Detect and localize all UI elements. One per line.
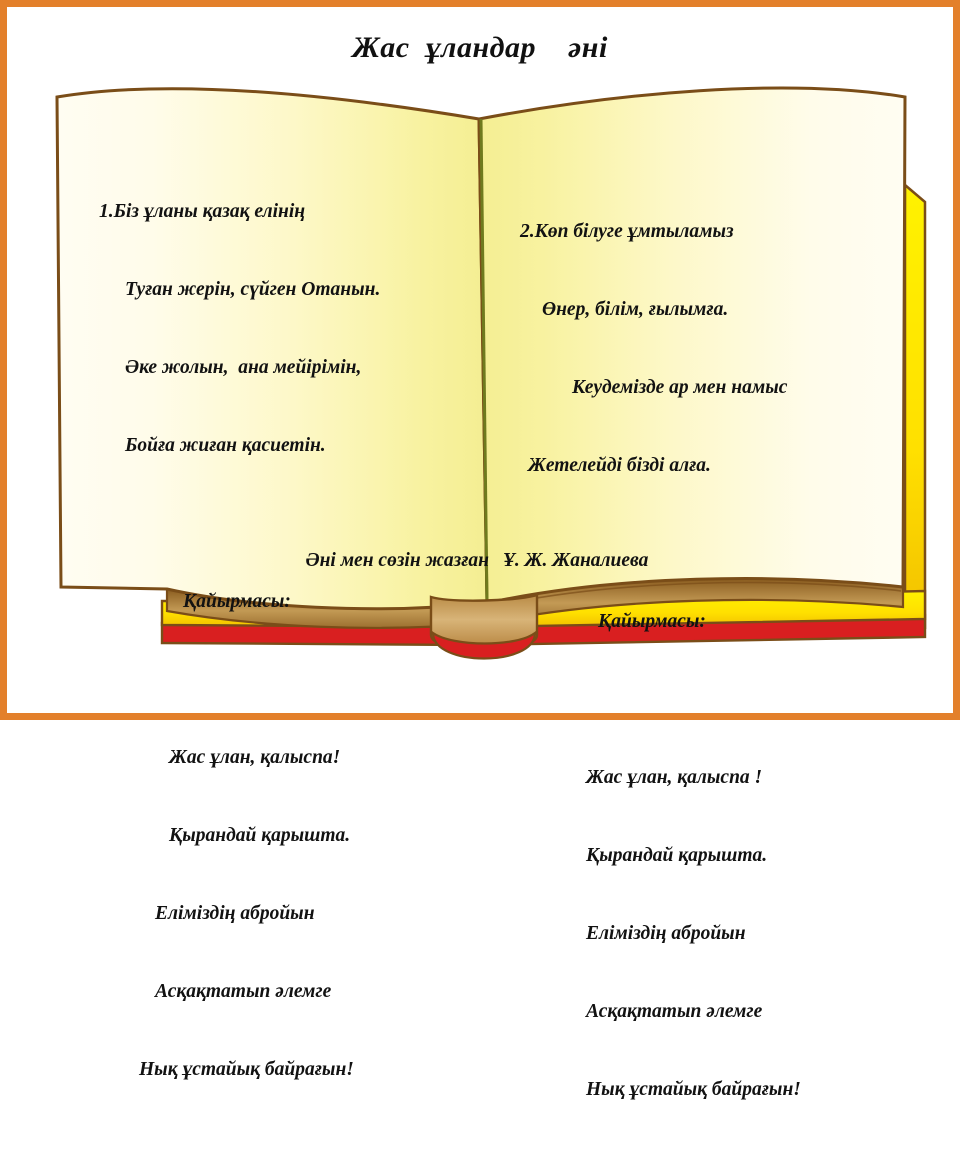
right-page-text-block: 2.Көп білуге ұмтыламыз Өнер, білім, ғылы… <box>502 167 902 1155</box>
spacer <box>99 667 479 693</box>
right-chorus-line: Нық ұстайық байрағын! <box>502 1077 902 1103</box>
right-chorus-line: Жас ұлан, қалыспа ! <box>502 765 902 791</box>
left-page-text-block: 1.Біз ұланы қазақ елінің Туған жерін, сү… <box>99 147 479 1135</box>
credit-author-label: Әні мен сөзін жазған <box>99 550 489 572</box>
right-chorus-line: Асқақтатып әлемге <box>502 999 902 1025</box>
spacer <box>99 511 479 537</box>
left-verse-line: Туған жерін, сүйген Отанын. <box>99 277 479 303</box>
left-chorus-line: Асқақтатып әлемге <box>99 979 479 1005</box>
right-chorus-heading: Қайырмасы: <box>502 609 902 635</box>
right-chorus-line: Қырандай қарышта. <box>502 843 902 869</box>
page-title: Жас ұландар әні <box>7 31 953 65</box>
spacer <box>502 687 902 713</box>
credit-author-name: Ұ. Ж. Жаналиева <box>503 550 648 572</box>
left-verse-line: Бойға жиған қасиетін. <box>99 433 479 459</box>
left-verse-line: 1.Біз ұланы қазақ елінің <box>99 199 479 225</box>
left-chorus-heading: Қайырмасы: <box>99 589 479 615</box>
left-chorus-line: Қырандай қарышта. <box>99 823 479 849</box>
book-right-cover-edge <box>905 185 925 627</box>
right-verse-line: Өнер, білім, ғылымға. <box>502 297 902 323</box>
right-verse-line: 2.Көп білуге ұмтыламыз <box>502 219 902 245</box>
right-chorus-line: Еліміздің абройын <box>502 921 902 947</box>
right-verse-line: Кеудемізде ар мен намыс <box>502 375 902 401</box>
left-chorus-line: Нық ұстайық байрағын! <box>99 1057 479 1083</box>
right-verse-line: Жетелейді бізді алға. <box>502 453 902 479</box>
slide-canvas: Жас ұландар әні <box>0 0 960 720</box>
left-verse-line: Әке жолын, ана мейірімін, <box>99 355 479 381</box>
left-chorus-line: Жас ұлан, қалыспа! <box>99 745 479 771</box>
left-chorus-line: Еліміздің абройын <box>99 901 479 927</box>
